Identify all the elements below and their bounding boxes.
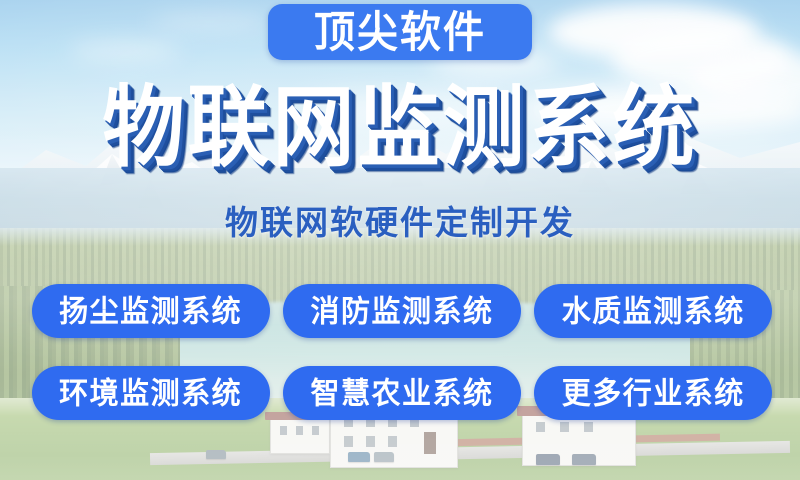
- pill-label: 消防监测系统: [310, 296, 493, 326]
- pill-label: 扬尘监测系统: [59, 296, 242, 326]
- pill-button-fire-monitoring[interactable]: 消防监测系统: [283, 284, 521, 338]
- brand-badge[interactable]: 顶尖软件: [268, 4, 532, 60]
- promo-banner: 顶尖软件 物联网监测系统 物联网软硬件定制开发 扬尘监测系统 消防监测系统 水质…: [0, 0, 800, 480]
- system-category-list: 扬尘监测系统 消防监测系统 水质监测系统 环境监测系统 智慧农业系统 更多行业系…: [28, 284, 776, 420]
- page-subtitle: 物联网软硬件定制开发: [0, 206, 800, 239]
- pill-button-more-industries[interactable]: 更多行业系统: [534, 366, 772, 420]
- pill-label: 更多行业系统: [562, 378, 745, 408]
- banner-content: 顶尖软件 物联网监测系统 物联网软硬件定制开发 扬尘监测系统 消防监测系统 水质…: [0, 0, 800, 480]
- pill-label: 水质监测系统: [562, 296, 745, 326]
- pill-button-smart-agriculture[interactable]: 智慧农业系统: [283, 366, 521, 420]
- brand-badge-label: 顶尖软件: [314, 10, 486, 53]
- pill-button-environment-monitoring[interactable]: 环境监测系统: [32, 366, 270, 420]
- pill-label: 环境监测系统: [59, 378, 242, 408]
- pill-button-dust-monitoring[interactable]: 扬尘监测系统: [32, 284, 270, 338]
- pill-button-water-quality-monitoring[interactable]: 水质监测系统: [534, 284, 772, 338]
- pill-label: 智慧农业系统: [310, 378, 493, 408]
- page-title: 物联网监测系统: [0, 85, 800, 174]
